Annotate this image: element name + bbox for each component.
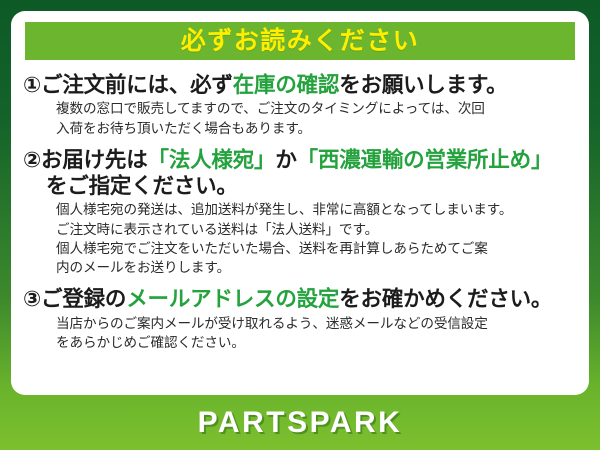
footer-brand-band: PARTSPARK — [0, 395, 600, 450]
notice-item-2-heading-part-1: お届け先は — [41, 148, 148, 172]
notice-item-1-heading: ①ご注文前には、必ず在庫の確認をお願いします。 — [23, 67, 579, 99]
notice-item-1: ①ご注文前には、必ず在庫の確認をお願いします。 複数の窓口で販売してますので、ご… — [23, 67, 579, 138]
notice-item-3: ③ご登録のメールアドレスの設定をお確かめください。 当店からのご案内メールが受け… — [23, 281, 579, 352]
notice-item-2-heading-line2: をご指定ください。 — [23, 173, 579, 199]
notice-item-1-heading-accent: 在庫の確認 — [233, 73, 340, 97]
notice-item-1-heading-part-3: をお願いします。 — [339, 73, 507, 97]
notice-panel: 必ずお読みください ①ご注文前には、必ず在庫の確認をお願いします。 複数の窓口で… — [11, 11, 589, 395]
notice-item-3-heading-part-1: ご登録の — [41, 287, 126, 311]
notice-frame: 必ずお読みください ①ご注文前には、必ず在庫の確認をお願いします。 複数の窓口で… — [0, 0, 600, 450]
notice-item-2-marker: ② — [23, 148, 41, 172]
notice-item-2-sub-line-2: ご注文時に表示されている送料は「法人送料」です。 — [23, 220, 579, 239]
notice-item-2-heading: ②お届け先は「法人様宛」か「西濃運輸の営業所止め」 をご指定ください。 — [23, 142, 579, 200]
notice-item-2-heading-accent-1: 「法人様宛」 — [148, 148, 276, 172]
brand-logo-text: PARTSPARK — [198, 408, 403, 438]
notice-item-2-sub-line-4: 内のメールをお送りします。 — [23, 258, 579, 277]
notice-item-3-sub-line-2: をあらかじめご確認ください。 — [23, 333, 579, 352]
notice-item-2-sub-line-1: 個人様宅宛の発送は、追加送料が発生し、非常に高額となってしまいます。 — [23, 200, 579, 219]
notice-item-1-heading-part-1: ご注文前には、必ず — [41, 73, 233, 97]
notice-item-1-sub-line-2: 入荷をお待ち頂いただく場合もあります。 — [23, 119, 579, 138]
notice-item-2-heading-accent-2: 「西濃運輸の営業所止め」 — [297, 148, 553, 172]
notice-item-1-sub-line-1: 複数の窓口で販売してますので、ご注文のタイミングによっては、次回 — [23, 99, 579, 118]
notice-item-1-marker: ① — [23, 73, 41, 97]
notice-item-3-heading: ③ご登録のメールアドレスの設定をお確かめください。 — [23, 281, 579, 313]
notice-item-3-heading-accent: メールアドレスの設定 — [126, 287, 339, 311]
notice-list: ①ご注文前には、必ず在庫の確認をお願いします。 複数の窓口で販売してますので、ご… — [11, 67, 589, 356]
notice-item-2: ②お届け先は「法人様宛」か「西濃運輸の営業所止め」 をご指定ください。 個人様宅… — [23, 142, 579, 278]
notice-item-3-marker: ③ — [23, 287, 41, 311]
page-title: 必ずお読みください — [181, 29, 420, 54]
notice-item-2-heading-part-3: か — [275, 148, 296, 172]
header-banner: 必ずお読みください — [25, 22, 575, 60]
notice-item-3-sub-line-1: 当店からのご案内メールが受け取れるよう、迷惑メールなどの受信設定 — [23, 314, 579, 333]
notice-item-3-heading-part-3: をお確かめください。 — [339, 287, 552, 311]
notice-item-2-sub-line-3: 個人様宅宛でご注文をいただいた場合、送料を再計算しあらためてご案 — [23, 239, 579, 258]
